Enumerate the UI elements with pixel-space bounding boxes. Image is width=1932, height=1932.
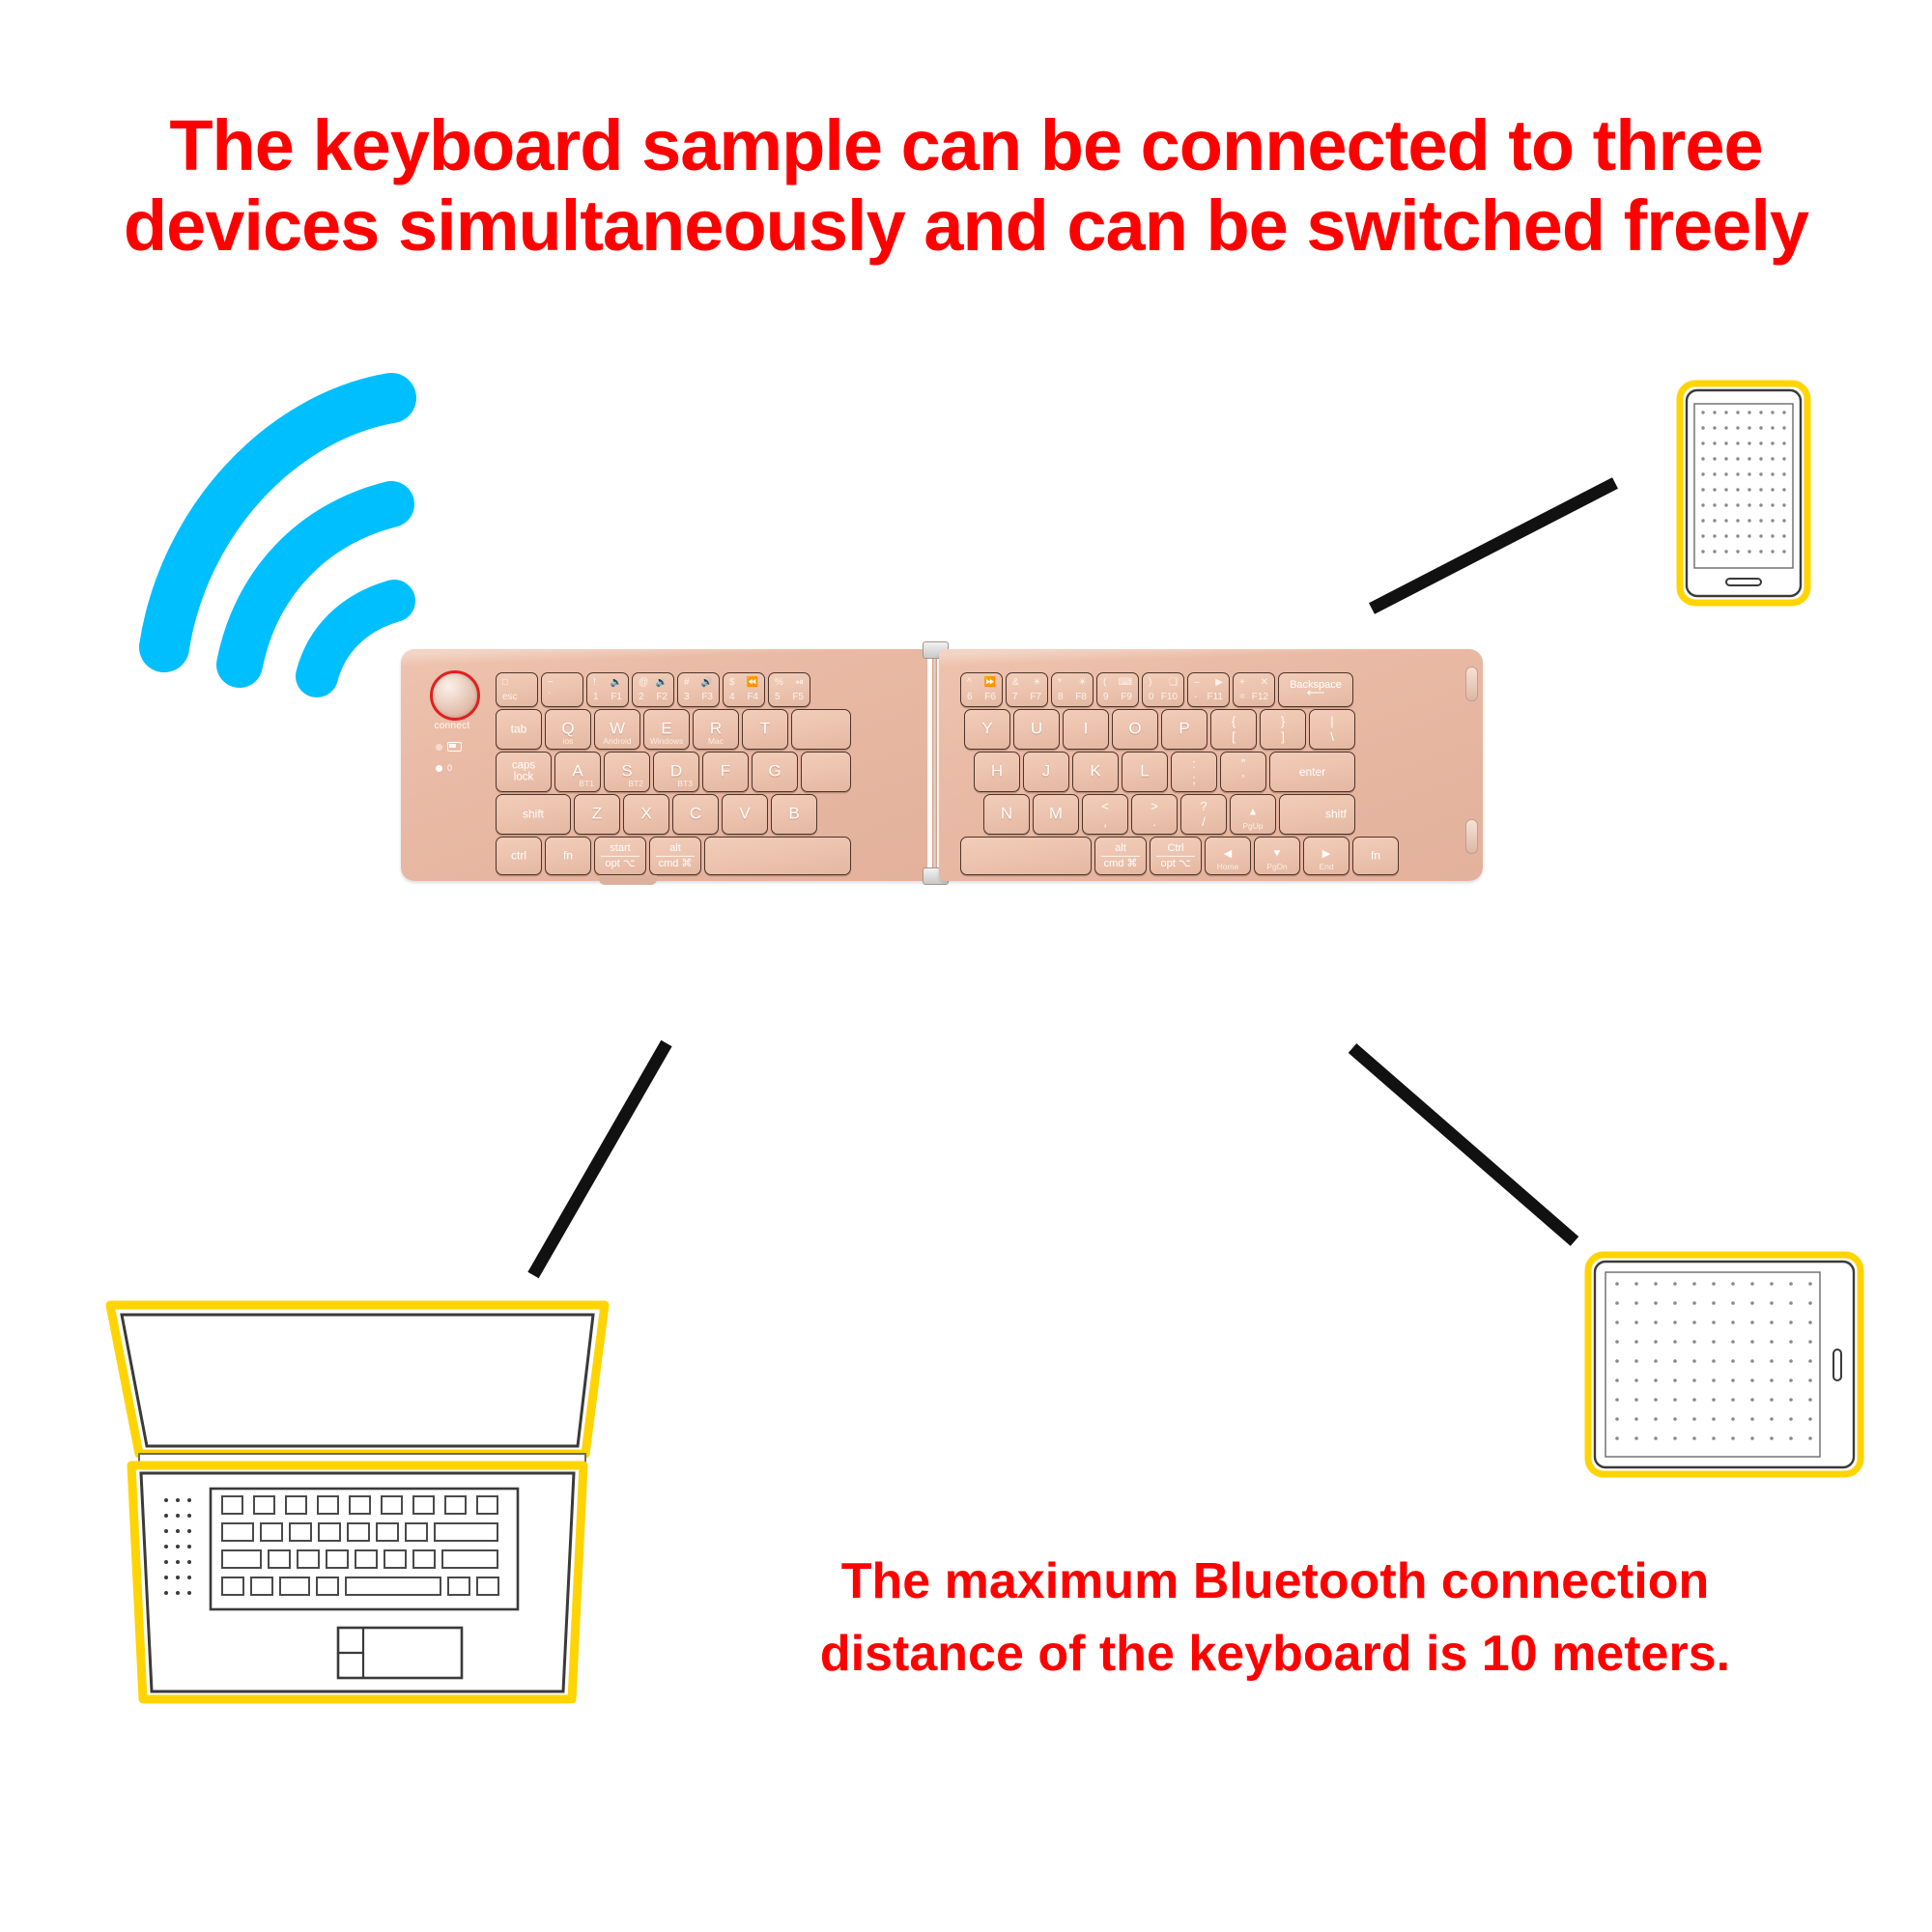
- key-d-bt3: BT3: [677, 779, 693, 788]
- key-slash-stack: ? /: [1181, 795, 1226, 834]
- key-equals-label: =: [1239, 692, 1245, 702]
- power-led-indicator: 0: [436, 763, 452, 773]
- keyboard-side-nub-bottom: [1465, 819, 1478, 854]
- key-w-sub: Android: [595, 736, 639, 746]
- key-n[interactable]: N: [983, 794, 1030, 835]
- key-quote-stack: ” ’: [1221, 753, 1265, 791]
- key-minus-f11[interactable]: – ▶ - F11: [1187, 672, 1230, 707]
- key-comma-label: ,: [1103, 814, 1107, 830]
- key-p-label: P: [1162, 720, 1207, 739]
- key-caps-lock-label: capslock: [497, 760, 551, 784]
- smartphone-illustration: [1676, 380, 1811, 607]
- key-h[interactable]: H: [974, 752, 1020, 792]
- key-f8-label: F8: [1075, 692, 1087, 702]
- key-a[interactable]: A BT1: [554, 752, 601, 792]
- key-minus-label: -: [1194, 692, 1197, 702]
- key-caps-lock[interactable]: capslock: [496, 752, 552, 792]
- key-5-f5[interactable]: % ⏯ 5 F5: [768, 672, 810, 707]
- battery-icon: [447, 742, 462, 752]
- key-tab-label: tab: [497, 723, 541, 736]
- key-ctrl-label: ctrl: [497, 849, 541, 863]
- brightness-down-icon: ☀: [1033, 677, 1041, 688]
- key-f[interactable]: F: [702, 752, 749, 792]
- key-0-shift: ): [1149, 677, 1151, 688]
- key-b[interactable]: B: [771, 794, 817, 835]
- key-e-sub: Windows: [644, 736, 689, 746]
- key-alt-right-label: alt: [1101, 842, 1140, 857]
- key-backspace[interactable]: Backspace ⟵: [1278, 672, 1353, 707]
- key-semicolon[interactable]: : ;: [1171, 752, 1217, 792]
- key-n-label: N: [984, 805, 1029, 824]
- keyboard-side-nub-top: [1465, 667, 1478, 701]
- key-o[interactable]: O: [1112, 709, 1158, 750]
- key-r[interactable]: R Mac: [693, 709, 739, 750]
- key-i[interactable]: I: [1063, 709, 1109, 750]
- laptop-illustration: [97, 1290, 618, 1715]
- key-e[interactable]: E Windows: [643, 709, 690, 750]
- key-tilde[interactable]: ~ `: [541, 672, 583, 707]
- key-start-opt[interactable]: start opt ⌥: [594, 837, 646, 875]
- key-9-shift: (: [1103, 677, 1106, 688]
- key-left-shift[interactable]: shift: [496, 794, 571, 835]
- key-u[interactable]: U: [1013, 709, 1060, 750]
- key-cmd-right-label: cmd ⌘: [1095, 857, 1146, 870]
- key-space-right[interactable]: [960, 837, 1092, 875]
- key-alt-cmd-right[interactable]: alt cmd ⌘: [1094, 837, 1147, 875]
- key-alt-cmd-right-stack: alt cmd ⌘: [1095, 842, 1146, 869]
- key-4-f4[interactable]: $ ⏪ 4 F4: [723, 672, 765, 707]
- tablet-illustration: [1584, 1251, 1864, 1478]
- key-1-shift: !: [593, 677, 596, 688]
- key-esc[interactable]: □ esc: [496, 672, 538, 707]
- key-8-shift: *: [1058, 677, 1062, 688]
- key-less-than: <: [1101, 799, 1109, 814]
- bluetooth-signal-icon: [116, 357, 444, 715]
- key-semicolon-stack: : ;: [1172, 753, 1216, 791]
- key-3-label: 3: [684, 692, 690, 702]
- key-2-shift: @: [639, 677, 648, 688]
- key-period-label: .: [1152, 814, 1156, 830]
- key-g-label: G: [753, 762, 797, 781]
- key-backslash-stack: | \: [1310, 710, 1354, 749]
- key-z-label: Z: [575, 805, 619, 824]
- key-slash-label: /: [1202, 814, 1206, 830]
- battery-led-dot: [436, 744, 442, 751]
- arrow-right-icon: ▶: [1304, 847, 1349, 860]
- key-f-label: F: [703, 762, 748, 781]
- key-4-shift: $: [729, 677, 735, 688]
- key-double-quote: ”: [1241, 756, 1245, 772]
- key-h-label: H: [975, 762, 1019, 781]
- key-underscore: –: [1194, 677, 1200, 688]
- key-3-shift: #: [684, 677, 690, 688]
- key-p[interactable]: P: [1161, 709, 1207, 750]
- key-1-label: 1: [593, 692, 599, 702]
- key-period[interactable]: > .: [1131, 794, 1178, 835]
- caption-line-1: The maximum Bluetooth connection: [720, 1546, 1831, 1618]
- key-tilde-label: `: [548, 692, 551, 702]
- key-0-label: 0: [1149, 692, 1154, 702]
- key-r-sub: Mac: [694, 736, 738, 746]
- fast-forward-icon: ⏩: [984, 677, 996, 688]
- volume-down-icon: 🔉: [656, 677, 668, 688]
- key-start-label: start: [601, 842, 639, 857]
- key-d[interactable]: D BT3: [653, 752, 699, 792]
- key-8-label: 8: [1058, 692, 1064, 702]
- key-bracket-left-stack: { [: [1211, 710, 1256, 749]
- key-pipe: |: [1330, 714, 1333, 729]
- key-arrow-left[interactable]: ◀ Home: [1205, 837, 1251, 875]
- key-j-label: J: [1024, 762, 1068, 781]
- key-slash[interactable]: ? /: [1180, 794, 1227, 835]
- key-u-label: U: [1014, 720, 1059, 739]
- backspace-arrow-icon: ⟵: [1279, 685, 1352, 700]
- key-a-bt1: BT1: [579, 779, 594, 788]
- key-arrow-down[interactable]: ▼ PgDn: [1254, 837, 1300, 875]
- battery-led-indicator: [436, 742, 462, 752]
- keyboard-backlight-icon: ⌨: [1119, 677, 1132, 688]
- key-l-label: L: [1122, 762, 1167, 781]
- play-pause-icon: ⏯: [796, 677, 804, 688]
- key-5-label: 5: [775, 692, 781, 702]
- key-w[interactable]: W Android: [594, 709, 640, 750]
- key-1-f1[interactable]: ! 🔈 1 F1: [586, 672, 629, 707]
- fold-divot: [599, 875, 657, 885]
- key-q[interactable]: Q ios: [545, 709, 591, 750]
- key-3-f3[interactable]: # 🔊 3 F3: [677, 672, 720, 707]
- key-alt-cmd-left[interactable]: alt cmd ⌘: [649, 837, 701, 875]
- keyboard-right-half: ^ ⏩ 6 F6 & ☀ 7 F7 * ☀ 8 F8 ( ⌨ 9 F9: [939, 649, 1483, 881]
- key-backslash[interactable]: | \: [1309, 709, 1355, 750]
- key-fn-left-label: fn: [546, 849, 590, 863]
- key-quote[interactable]: ” ’: [1220, 752, 1266, 792]
- key-f11-label: F11: [1207, 692, 1224, 702]
- rewind-icon: ⏪: [747, 677, 758, 688]
- key-bracket-right-label: ]: [1281, 729, 1285, 745]
- key-7-f7[interactable]: & ☀ 7 F7: [1006, 672, 1048, 707]
- key-f1-label: F1: [611, 692, 622, 702]
- key-x[interactable]: X: [623, 794, 669, 835]
- key-6-f6[interactable]: ^ ⏩ 6 F6: [960, 672, 1003, 707]
- key-pgdn-label: PgDn: [1255, 862, 1299, 871]
- close-icon: ✕: [1261, 677, 1268, 688]
- key-f12-label: F12: [1252, 692, 1268, 702]
- key-m[interactable]: M: [1033, 794, 1079, 835]
- key-0-f10[interactable]: ) ❑ 0 F10: [1142, 672, 1184, 707]
- key-bracket-left-label: [: [1232, 729, 1236, 745]
- key-k[interactable]: K: [1072, 752, 1119, 792]
- line-to-laptop: [533, 1043, 667, 1275]
- key-5-shift: %: [775, 677, 783, 688]
- key-f7-label: F7: [1030, 692, 1041, 702]
- key-start-opt-stack: start opt ⌥: [595, 842, 645, 869]
- key-opt-label: opt ⌥: [595, 857, 645, 870]
- key-greater-than: >: [1151, 799, 1158, 814]
- key-arrow-up[interactable]: ▲ PgUp: [1230, 794, 1276, 835]
- screenshot-icon: ❑: [1169, 677, 1178, 688]
- key-m-label: M: [1034, 805, 1078, 824]
- mute-icon: 🔈: [611, 677, 622, 688]
- arrow-down-icon: ▼: [1255, 848, 1299, 860]
- key-arrow-right[interactable]: ▶ End: [1303, 837, 1350, 875]
- key-c[interactable]: C: [672, 794, 719, 835]
- key-fn-left[interactable]: fn: [545, 837, 591, 875]
- key-f10-label: F10: [1161, 692, 1178, 702]
- key-f9-label: F9: [1121, 692, 1132, 702]
- media-play-icon: ▶: [1215, 677, 1223, 688]
- key-esc-top: □: [502, 677, 508, 688]
- key-z[interactable]: Z: [574, 794, 620, 835]
- key-ctrl-opt-right[interactable]: Ctrl opt ⌥: [1150, 837, 1202, 875]
- headline-line-2: devices simultaneously and can be switch…: [0, 186, 1932, 267]
- connect-button-label: connect: [422, 721, 482, 731]
- key-2-f2[interactable]: @ 🔉 2 F2: [632, 672, 674, 707]
- line-to-phone: [1372, 483, 1615, 609]
- key-alt-cmd-left-stack: alt cmd ⌘: [650, 842, 700, 869]
- key-left-blank-2[interactable]: [801, 752, 851, 792]
- key-right-shift-label: shitf: [1280, 808, 1354, 821]
- brightness-up-icon: ☀: [1078, 677, 1087, 688]
- key-8-f8[interactable]: * ☀ 8 F8: [1051, 672, 1094, 707]
- poster-canvas: The keyboard sample can be connected to …: [0, 0, 1932, 1932]
- key-6-shift: ^: [967, 677, 972, 688]
- key-colon: :: [1192, 756, 1196, 772]
- key-fn-right-label: fn: [1353, 849, 1398, 863]
- key-i-label: I: [1064, 720, 1108, 739]
- key-brace-left: {: [1232, 714, 1236, 729]
- key-k-label: K: [1073, 762, 1118, 781]
- key-f2-label: F2: [656, 692, 668, 702]
- key-7-shift: &: [1012, 677, 1019, 688]
- bluetooth-range-caption: The maximum Bluetooth connection distanc…: [720, 1546, 1831, 1691]
- key-alt-left-label: alt: [656, 842, 695, 857]
- key-7-label: 7: [1012, 692, 1018, 702]
- key-f5-label: F5: [792, 692, 804, 702]
- key-fn-right[interactable]: fn: [1352, 837, 1399, 875]
- key-esc-label: esc: [502, 692, 518, 702]
- key-brace-right: }: [1281, 714, 1285, 729]
- key-tilde-top: ~: [548, 677, 554, 688]
- key-t-label: T: [743, 720, 787, 739]
- key-home-label: Home: [1206, 862, 1250, 871]
- key-enter[interactable]: enter: [1269, 752, 1355, 792]
- foldable-keyboard: connect 0 □ esc ~ ` ! 🔈 1 F1: [401, 649, 1483, 881]
- key-ctrl-opt-right-stack: Ctrl opt ⌥: [1151, 842, 1201, 869]
- key-4-label: 4: [729, 692, 735, 702]
- key-backslash-label: \: [1330, 729, 1334, 745]
- key-x-label: X: [624, 805, 668, 824]
- line-to-tablet: [1352, 1048, 1575, 1241]
- key-comma[interactable]: < ,: [1082, 794, 1128, 835]
- key-left-blank-1[interactable]: [791, 709, 851, 750]
- key-end-label: End: [1304, 862, 1349, 871]
- key-tab[interactable]: tab: [496, 709, 542, 750]
- key-semicolon-label: ;: [1192, 772, 1196, 787]
- key-opt-right-label: opt ⌥: [1151, 857, 1201, 870]
- key-period-stack: > .: [1132, 795, 1177, 834]
- key-cmd-left-label: cmd ⌘: [650, 857, 700, 870]
- key-f6-label: F6: [984, 692, 996, 702]
- caption-line-2: distance of the keyboard is 10 meters.: [720, 1618, 1831, 1690]
- key-o-label: O: [1113, 720, 1157, 739]
- key-plus: +: [1239, 677, 1245, 688]
- key-ctrl-right-label: Ctrl: [1156, 842, 1195, 857]
- key-bracket-left[interactable]: { [: [1210, 709, 1257, 750]
- key-c-label: C: [673, 805, 718, 824]
- key-enter-label: enter: [1270, 765, 1354, 779]
- key-g[interactable]: G: [752, 752, 798, 792]
- key-ctrl[interactable]: ctrl: [496, 837, 542, 875]
- key-v-label: V: [723, 805, 767, 824]
- keyboard-left-half: connect 0 □ esc ~ ` ! 🔈 1 F1: [401, 649, 927, 881]
- arrow-up-icon: ▲: [1231, 807, 1275, 818]
- key-question-mark: ?: [1200, 799, 1207, 814]
- key-comma-stack: < ,: [1083, 795, 1127, 834]
- connect-button[interactable]: [430, 670, 480, 721]
- headline-line-1: The keyboard sample can be connected to …: [0, 106, 1932, 186]
- power-led-dot: [436, 765, 442, 772]
- volume-up-icon: 🔊: [701, 677, 713, 688]
- key-9-f9[interactable]: ( ⌨ 9 F9: [1096, 672, 1139, 707]
- arrow-left-icon: ◀: [1206, 847, 1250, 860]
- key-j[interactable]: J: [1023, 752, 1069, 792]
- page-title: The keyboard sample can be connected to …: [0, 106, 1932, 267]
- key-9-label: 9: [1103, 692, 1109, 702]
- power-led-label: 0: [447, 763, 452, 773]
- key-2-label: 2: [639, 692, 644, 702]
- key-f3-label: F3: [701, 692, 713, 702]
- key-b-label: B: [772, 805, 816, 824]
- key-q-sub: ios: [546, 736, 590, 746]
- key-space-left[interactable]: [704, 837, 851, 875]
- key-y[interactable]: Y: [964, 709, 1010, 750]
- key-f4-label: F4: [747, 692, 758, 702]
- key-pgup-label: PgUp: [1231, 821, 1275, 831]
- key-6-label: 6: [967, 692, 973, 702]
- key-s[interactable]: S BT2: [604, 752, 650, 792]
- key-s-bt2: BT2: [628, 779, 643, 788]
- key-equals-f12[interactable]: + ✕ = F12: [1233, 672, 1275, 707]
- key-left-shift-label: shift: [497, 808, 570, 821]
- key-bracket-right[interactable]: } ]: [1260, 709, 1306, 750]
- hinge-bar: [932, 647, 937, 885]
- key-y-label: Y: [965, 720, 1009, 739]
- key-right-shift[interactable]: shitf: [1279, 794, 1355, 835]
- key-t[interactable]: T: [742, 709, 788, 750]
- key-l[interactable]: L: [1122, 752, 1168, 792]
- key-bracket-right-stack: } ]: [1261, 710, 1305, 749]
- key-single-quote: ’: [1242, 772, 1245, 787]
- key-v[interactable]: V: [722, 794, 768, 835]
